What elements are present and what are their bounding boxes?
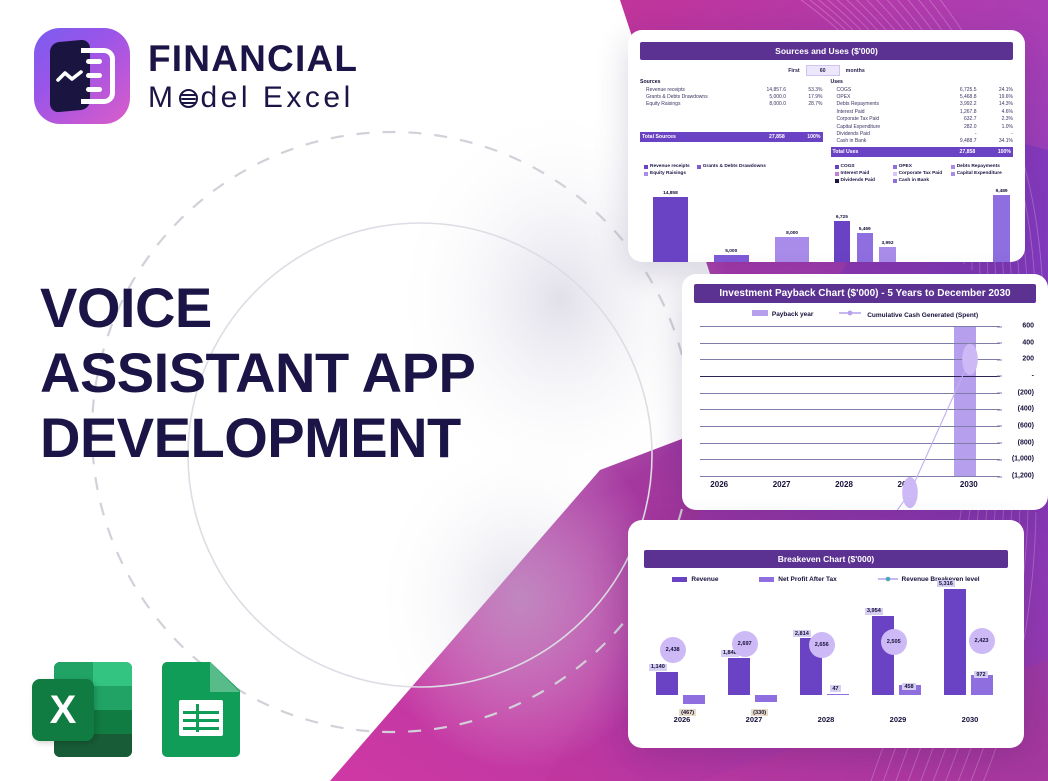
bar xyxy=(879,247,895,262)
bar-value-label: 5,000 xyxy=(725,249,737,254)
row-pct: 19.6% xyxy=(977,93,1014,100)
row-label: Equity Raisings xyxy=(640,101,728,108)
bar xyxy=(834,221,850,262)
row-label: Capital Expenditure xyxy=(831,123,919,130)
brand-wordmark: FINANCIAL M del Excel xyxy=(148,40,358,113)
bar-group: 14,858 xyxy=(653,185,688,262)
headline-line-3: DEVELOPMENT xyxy=(40,406,560,471)
legend-item: Payback year xyxy=(752,310,814,318)
table-row: Equity Raisings 8,000.0 28.7% xyxy=(640,101,823,108)
row-pct: 28.7% xyxy=(786,101,823,108)
financial-model-excel-logo-icon xyxy=(34,28,130,124)
uses-heading: Uses xyxy=(831,79,1014,85)
y-tick-label: (400) xyxy=(1004,406,1034,413)
bar-value-label: 14,858 xyxy=(663,191,678,196)
sources-bar-chart: 14,858 5,000 8,000 xyxy=(640,185,823,262)
y-tick-label: - xyxy=(1004,372,1034,379)
y-tick-label: (200) xyxy=(1004,389,1034,396)
table-row: Debts Repayments 3,992.2 14.3% xyxy=(831,101,1014,108)
total-label: Total Uses xyxy=(833,149,919,155)
bar-group: 0 xyxy=(971,185,987,262)
legend-item: Revenue xyxy=(672,575,718,583)
row-label: COGS xyxy=(831,86,919,93)
period-prefix-label: First xyxy=(788,68,799,74)
total-label: Total Sources xyxy=(642,134,728,140)
sources-heading: Sources xyxy=(640,79,823,85)
legend-item: Dividends Paid xyxy=(835,178,893,183)
legend-item: Capital Expenditure xyxy=(951,171,1009,176)
row-pct: 17.9% xyxy=(786,93,823,100)
row-pct: 14.3% xyxy=(977,101,1014,108)
logo-o-glyph-icon xyxy=(177,83,201,113)
headline-line-1: VOICE xyxy=(40,276,560,341)
table-row: Dividends Paid - - xyxy=(831,130,1014,137)
legend-item: Revenue receipts xyxy=(644,164,690,169)
row-value: 632.7 xyxy=(918,116,976,123)
uses-bar-chart: 6,725 5,469 3,992 1,268 633 282 0 9,489 xyxy=(831,185,1014,262)
bar-group: 5,000 xyxy=(714,185,749,262)
table-row: Capital Expenditure 282.0 1.0% xyxy=(831,123,1014,130)
breakeven-legend: Revenue Net Profit After Tax Revenue Bre… xyxy=(636,575,1016,583)
y-tick-label: (800) xyxy=(1004,439,1034,446)
row-value: 9,488.7 xyxy=(918,138,976,145)
table-row: Interest Paid 1,267.8 4.6% xyxy=(831,108,1014,115)
legend-item: Interest Paid xyxy=(835,171,893,176)
payback-data-points xyxy=(700,326,1000,510)
table-row: Corporate Tax Paid 632.7 2.3% xyxy=(831,116,1014,123)
y-tick-label: (1,000) xyxy=(1004,456,1034,463)
bar-group: 633 xyxy=(925,185,941,262)
y-tick-label: (600) xyxy=(1004,422,1034,429)
row-label: Cash in Bank xyxy=(831,138,919,145)
y-tick-label: 600 xyxy=(1004,323,1034,330)
row-pct: 2.3% xyxy=(977,116,1014,123)
brand-logo[interactable]: FINANCIAL M del Excel xyxy=(34,28,358,124)
row-pct: 4.6% xyxy=(977,108,1014,115)
legend-item: Equity Raisings xyxy=(644,171,686,176)
breakeven-bubble: 2,656 xyxy=(809,632,835,658)
payback-title: Investment Payback Chart ($'000) - 5 Yea… xyxy=(694,284,1036,303)
sources-chart-legend: Revenue receipts Grants & Debts Drawdown… xyxy=(640,164,823,178)
total-value: 27,858 xyxy=(918,149,975,155)
y-tick-label: 200 xyxy=(1004,356,1034,363)
breakeven-bubble: 2,438 xyxy=(660,637,686,663)
legend-item: Corporate Tax Paid xyxy=(893,171,951,176)
row-pct: 34.1% xyxy=(977,138,1014,145)
row-value: 1,267.8 xyxy=(918,108,976,115)
payback-plot-area: 600 400 200 - (200) (400) (600) (800) (1… xyxy=(700,326,1034,476)
excel-x-glyph: X xyxy=(32,679,94,741)
row-pct: 1.0% xyxy=(977,123,1014,130)
poster-canvas: FINANCIAL M del Excel VOICE ASSISTANT AP… xyxy=(0,0,1048,781)
brand-name-top: FINANCIAL xyxy=(148,40,358,77)
uses-chart-legend: COGS OPEX Debts Repayments Interest Paid… xyxy=(831,164,1014,185)
bg-glow-2 xyxy=(370,430,670,770)
bar-group: 282 xyxy=(948,185,964,262)
bar-group: 1,268 xyxy=(902,185,918,262)
table-row: Cash in Bank 9,488.7 34.1% xyxy=(831,138,1014,145)
bar-value-label: 6,725 xyxy=(836,215,848,220)
row-label: Debts Repayments xyxy=(831,101,919,108)
sources-column: Sources Revenue receipts 14,857.6 53.3% … xyxy=(640,79,823,157)
uses-column: Uses COGS 6,725.5 24.1% OPEX 5,468.8 19.… xyxy=(831,79,1014,157)
legend-item: Net Profit After Tax xyxy=(759,575,837,583)
period-suffix-label: months xyxy=(846,68,865,74)
period-months-input[interactable]: 60 xyxy=(806,65,840,76)
bar-group: 9,489 xyxy=(993,185,1009,262)
legend-label: Revenue xyxy=(691,576,718,583)
bar-group: 8,000 xyxy=(775,185,810,262)
breakeven-bubble: 2,423 xyxy=(969,628,995,654)
bar xyxy=(714,255,749,262)
line-marker-icon xyxy=(839,309,861,317)
bar xyxy=(857,233,873,262)
legend-item: Grants & Debts Drawdowns xyxy=(697,164,766,169)
total-value: 27,858 xyxy=(728,134,785,140)
row-label: Interest Paid xyxy=(831,108,919,115)
legend-item: Revenue Breakeven level xyxy=(878,575,980,583)
uses-total-row: Total Uses 27,858 100% xyxy=(831,147,1014,157)
bar xyxy=(993,195,1009,262)
card-investment-payback[interactable]: Investment Payback Chart ($'000) - 5 Yea… xyxy=(682,274,1048,510)
bar-group: 5,469 xyxy=(857,185,873,262)
supported-apps: X xyxy=(32,662,240,757)
row-value: 14,857.6 xyxy=(728,86,786,93)
bar xyxy=(775,237,810,262)
brand-name-bottom-post: del Excel xyxy=(201,83,354,113)
line-marker-icon xyxy=(878,575,898,583)
legend-label: Cumulative Cash Generated (Spent) xyxy=(867,312,978,319)
brand-name-bottom-pre: M xyxy=(148,83,177,113)
breakeven-bubble: 2,505 xyxy=(881,629,907,655)
legend-item: Cumulative Cash Generated (Spent) xyxy=(839,309,978,319)
sources-total-row: Total Sources 27,858 100% xyxy=(640,132,823,142)
bar-group: 6,725 xyxy=(834,185,850,262)
sources-table: Revenue receipts 14,857.6 53.3% Grants &… xyxy=(640,86,823,108)
bar-value-label: 9,489 xyxy=(996,189,1008,194)
row-label: Corporate Tax Paid xyxy=(831,116,919,123)
row-value: 6,725.5 xyxy=(918,86,976,93)
row-value: 8,000.0 xyxy=(728,101,786,108)
row-value: 282.0 xyxy=(918,123,976,130)
payback-legend: Payback year Cumulative Cash Generated (… xyxy=(688,309,1042,319)
headline-line-2: ASSISTANT APP xyxy=(40,341,560,406)
row-label: Revenue receipts xyxy=(640,86,728,93)
uses-table: COGS 6,725.5 24.1% OPEX 5,468.8 19.6% De… xyxy=(831,86,1014,145)
row-value: 5,000.0 xyxy=(728,93,786,100)
row-label: OPEX xyxy=(831,93,919,100)
row-value: 3,992.2 xyxy=(918,101,976,108)
bar-value-label: 5,469 xyxy=(859,227,871,232)
row-label: Dividends Paid xyxy=(831,130,919,137)
table-row: Grants & Debts Drawdowns 5,000.0 17.9% xyxy=(640,93,823,100)
legend-item: COGS xyxy=(835,164,893,169)
total-pct: 100% xyxy=(785,134,821,140)
legend-label: Payback year xyxy=(772,311,814,318)
y-tick-label: 400 xyxy=(1004,339,1034,346)
legend-item: OPEX xyxy=(893,164,951,169)
legend-item: Cash in Bank xyxy=(893,178,951,183)
breakeven-title: Breakeven Chart ($'000) xyxy=(644,550,1008,568)
revenue-value-label: 5,316 xyxy=(937,580,955,587)
row-value: - xyxy=(918,130,976,137)
bar xyxy=(653,197,688,262)
row-pct: 53.3% xyxy=(786,86,823,93)
brand-name-bottom: M del Excel xyxy=(148,83,358,113)
card-breakeven[interactable]: Breakeven Chart ($'000) Revenue Net Prof… xyxy=(628,520,1024,748)
breakeven-bubble: 2,697 xyxy=(732,631,758,657)
breakeven-level-line xyxy=(646,591,1006,748)
table-row: COGS 6,725.5 24.1% xyxy=(831,86,1014,93)
row-value: 5,468.8 xyxy=(918,93,976,100)
bar-group: 3,992 xyxy=(879,185,895,262)
legend-item: Debts Repayments xyxy=(951,164,1009,169)
row-label: Grants & Debts Drawdowns xyxy=(640,93,728,100)
row-pct: - xyxy=(977,130,1014,137)
legend-label: Net Profit After Tax xyxy=(778,576,837,583)
row-pct: 24.1% xyxy=(977,86,1014,93)
bar-value-label: 8,000 xyxy=(786,231,798,236)
table-row: Revenue receipts 14,857.6 53.3% xyxy=(640,86,823,93)
total-pct: 100% xyxy=(975,149,1011,155)
microsoft-excel-icon[interactable]: X xyxy=(32,662,132,757)
table-row: OPEX 5,468.8 19.6% xyxy=(831,93,1014,100)
wave-icon xyxy=(56,70,84,84)
bar-value-label: 3,992 xyxy=(882,241,894,246)
sources-uses-title: Sources and Uses ($'000) xyxy=(640,42,1013,60)
card-sources-and-uses[interactable]: Sources and Uses ($'000) First 60 months… xyxy=(628,30,1025,262)
breakeven-plot-area: 1,140 (467) 2,438 1,848 (330) 2,697 2,81… xyxy=(646,591,1006,709)
y-tick-label: (1,200) xyxy=(1004,473,1034,480)
period-selector[interactable]: First 60 months xyxy=(636,65,1017,76)
google-sheets-icon[interactable] xyxy=(162,662,240,757)
page-title: VOICE ASSISTANT APP DEVELOPMENT xyxy=(40,276,560,471)
